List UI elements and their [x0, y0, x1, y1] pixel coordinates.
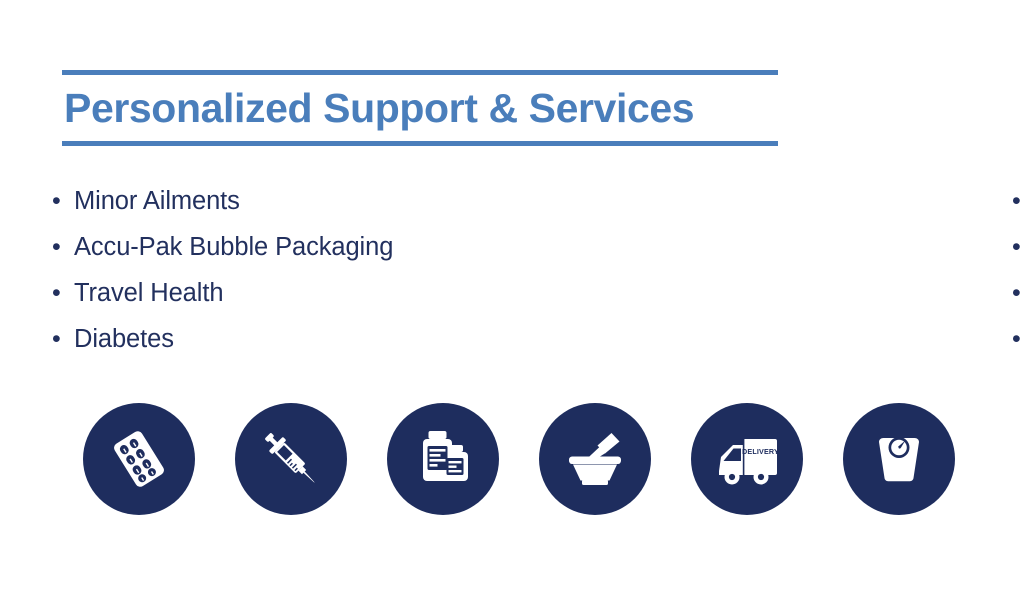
list-item: • Diabetes [52, 316, 480, 362]
list-item: • Medication Reviews [1012, 224, 1025, 270]
mortar-pestle-icon [561, 425, 629, 493]
icon-badge-medicine-bottles [387, 403, 499, 515]
bullet-icon: • [1012, 270, 1025, 316]
list-item: • Compression Therapy [1012, 316, 1025, 362]
services-column-left: • Minor Ailments • Accu-Pak Bubble Packa… [0, 178, 480, 362]
icon-badge-syringe [235, 403, 347, 515]
bullet-icon: • [52, 224, 74, 270]
blister-pack-icon [106, 426, 172, 492]
title-block: Personalized Support & Services [62, 70, 778, 146]
services-column-right: • Injections and Immunizations • Medicat… [480, 178, 1025, 362]
truck-delivery-label: DELIVERY [742, 447, 779, 456]
bullet-icon: • [52, 178, 74, 224]
list-item-label: Travel Health [74, 270, 223, 316]
icon-badge-delivery-truck: DELIVERY [691, 403, 803, 515]
list-item: • Injections and Immunizations [1012, 178, 1025, 224]
list-item: • Blood Pressure Monitoring [1012, 270, 1025, 316]
syringe-icon [256, 424, 326, 494]
medicine-bottles-icon [410, 426, 476, 492]
icon-badge-weight-scale [843, 403, 955, 515]
page-title: Personalized Support & Services [62, 75, 778, 141]
list-item-label: Diabetes [74, 316, 174, 362]
bullet-icon: • [52, 270, 74, 316]
list-item-label: Accu-Pak Bubble Packaging [74, 224, 393, 270]
title-rule-bottom [62, 141, 778, 146]
slide-root: Personalized Support & Services • Minor … [0, 0, 1025, 590]
delivery-truck-icon: DELIVERY [711, 423, 783, 495]
service-icon-row: DELIVERY [0, 403, 1025, 519]
list-item: • Minor Ailments [52, 178, 480, 224]
list-item: • Accu-Pak Bubble Packaging [52, 224, 480, 270]
bullet-icon: • [1012, 316, 1025, 362]
weight-scale-icon [866, 426, 932, 492]
bullet-icon: • [1012, 224, 1025, 270]
list-item-label: Minor Ailments [74, 178, 240, 224]
list-item: • Travel Health [52, 270, 480, 316]
services-columns: • Minor Ailments • Accu-Pak Bubble Packa… [0, 178, 1025, 362]
icon-badge-mortar-pestle [539, 403, 651, 515]
bullet-icon: • [1012, 178, 1025, 224]
bullet-icon: • [52, 316, 74, 362]
icon-badge-blister-pack [83, 403, 195, 515]
